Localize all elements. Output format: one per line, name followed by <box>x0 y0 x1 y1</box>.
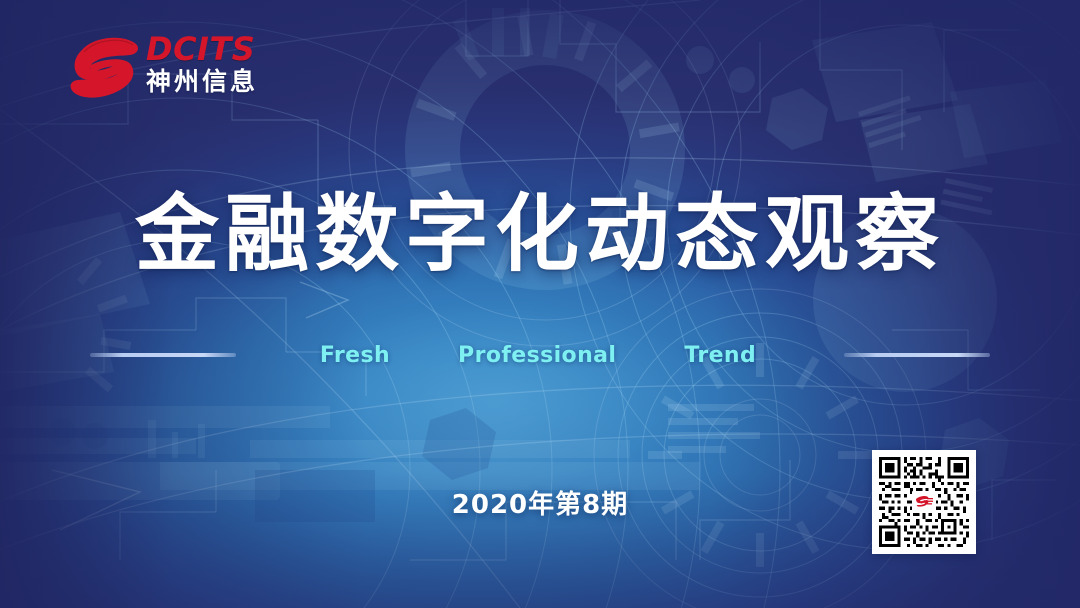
tagline-word-fresh: Fresh <box>286 343 424 368</box>
brand-name-en: DCITS <box>146 32 276 66</box>
brand-name-cn: 神州信息 <box>146 67 276 97</box>
brand-logo-text: DCITS 神州信息 <box>146 32 276 97</box>
dcits-swoosh-icon <box>66 32 144 104</box>
poster-canvas: DCITS 神州信息 金融数字化动态观察 Fresh Professional … <box>0 0 1080 608</box>
dcits-logo-badge <box>912 491 936 511</box>
tagline-word-professional: Professional <box>424 343 650 368</box>
tagline-row: Fresh Professional Trend <box>0 338 1080 372</box>
tagline-rule-right <box>844 353 990 357</box>
tagline-word-trend: Trend <box>650 343 790 368</box>
brand-logo: DCITS 神州信息 <box>66 30 276 112</box>
page-title: 金融数字化动态观察 <box>0 186 1080 282</box>
dcits-swoosh-mini-icon <box>915 495 934 508</box>
qr-code[interactable] <box>872 450 976 554</box>
tagline-rule-left <box>90 353 236 357</box>
